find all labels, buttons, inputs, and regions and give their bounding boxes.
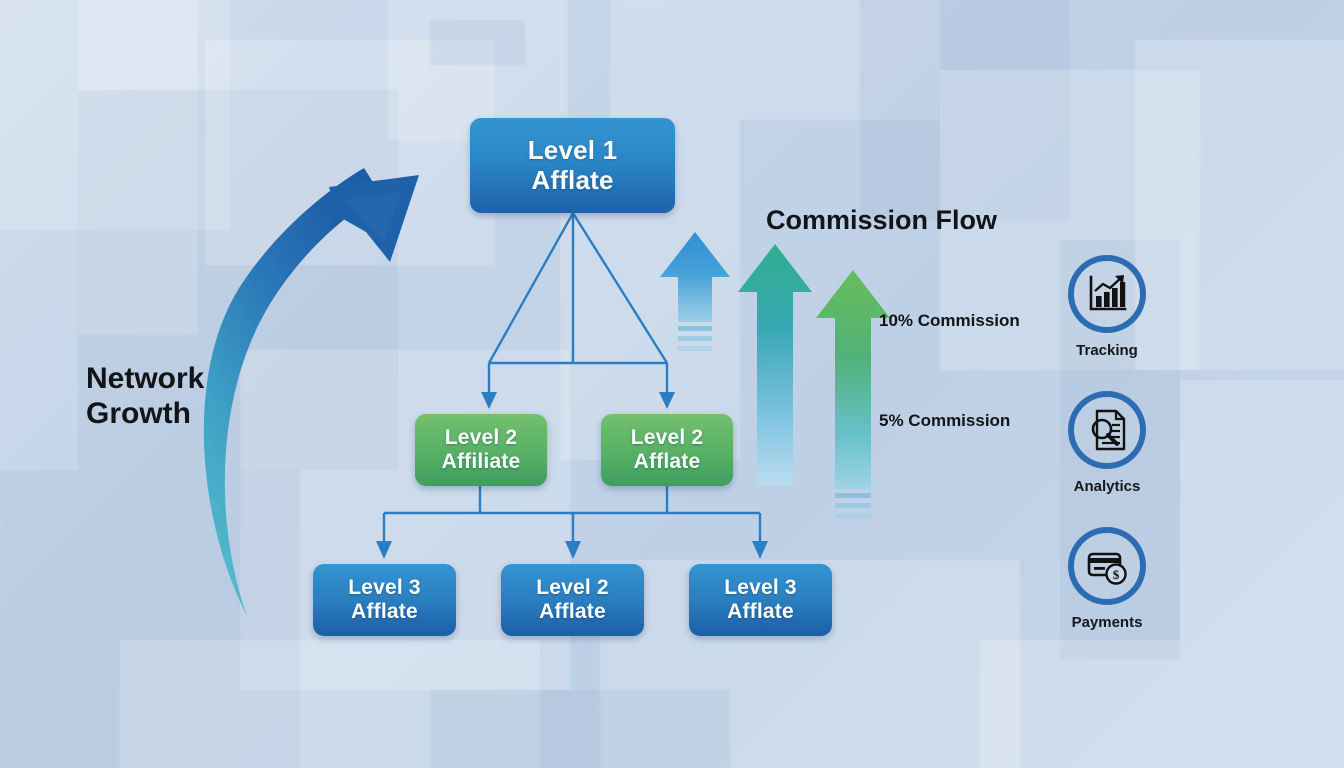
network-growth-label: Network Growth	[86, 362, 204, 432]
commission-arrow-3	[816, 270, 890, 518]
node-line-1: Level 2	[445, 426, 518, 450]
node-level-2-affiliate-right[interactable]: Level 2 Afflate	[601, 414, 733, 486]
node-level-2-affiliate-left[interactable]: Level 2 Affiliate	[415, 414, 547, 486]
feature-tracking[interactable]: Tracking	[1042, 255, 1172, 359]
node-line-1: Level 2	[631, 426, 704, 450]
node-line-2: Afflate	[351, 600, 418, 624]
node-level-2-affiliate-bottom[interactable]: Level 2 Afflate	[501, 564, 644, 636]
icon-ring	[1068, 255, 1146, 333]
icon-ring	[1068, 391, 1146, 469]
bar-chart-growth-icon	[1084, 271, 1130, 317]
node-line-2: Afflate	[634, 450, 701, 474]
node-line-1: Level 1	[528, 136, 618, 165]
node-level-3-affiliate-right[interactable]: Level 3 Afflate	[689, 564, 832, 636]
node-line-1: Level 3	[348, 576, 421, 600]
feature-label: Analytics	[1042, 478, 1172, 495]
node-level-1-affiliate[interactable]: Level 1 Afflate	[470, 118, 675, 213]
diagram-canvas: Level 1 Afflate Level 2 Affiliate Level …	[0, 0, 1344, 768]
connector-level1-to-level2	[489, 213, 667, 398]
node-line-2: Afflate	[727, 600, 794, 624]
commission-flow-title: Commission Flow	[766, 205, 997, 236]
connector-arrowheads-level2	[481, 392, 675, 409]
node-level-3-affiliate-left[interactable]: Level 3 Afflate	[313, 564, 456, 636]
commission-rate-10-label: 10% Commission	[879, 311, 1020, 331]
commission-arrow-1	[660, 232, 730, 351]
icon-ring: $	[1068, 527, 1146, 605]
node-line-1: Level 2	[536, 576, 609, 600]
feature-label: Payments	[1042, 614, 1172, 631]
node-line-2: Affiliate	[442, 450, 521, 474]
node-line-1: Level 3	[724, 576, 797, 600]
feature-analytics[interactable]: Analytics	[1042, 391, 1172, 495]
svg-text:$: $	[1113, 567, 1120, 582]
commission-rate-5-label: 5% Commission	[879, 411, 1010, 431]
document-magnifier-icon	[1084, 407, 1130, 453]
feature-payments[interactable]: $ Payments	[1042, 527, 1172, 631]
feature-label: Tracking	[1042, 342, 1172, 359]
connector-arrowheads-level3	[376, 541, 768, 559]
credit-card-dollar-icon: $	[1084, 543, 1130, 589]
connector-level2-to-level3	[384, 486, 760, 547]
commission-arrow-2	[738, 244, 812, 486]
node-line-2: Afflate	[539, 600, 606, 624]
node-line-2: Afflate	[531, 166, 613, 195]
